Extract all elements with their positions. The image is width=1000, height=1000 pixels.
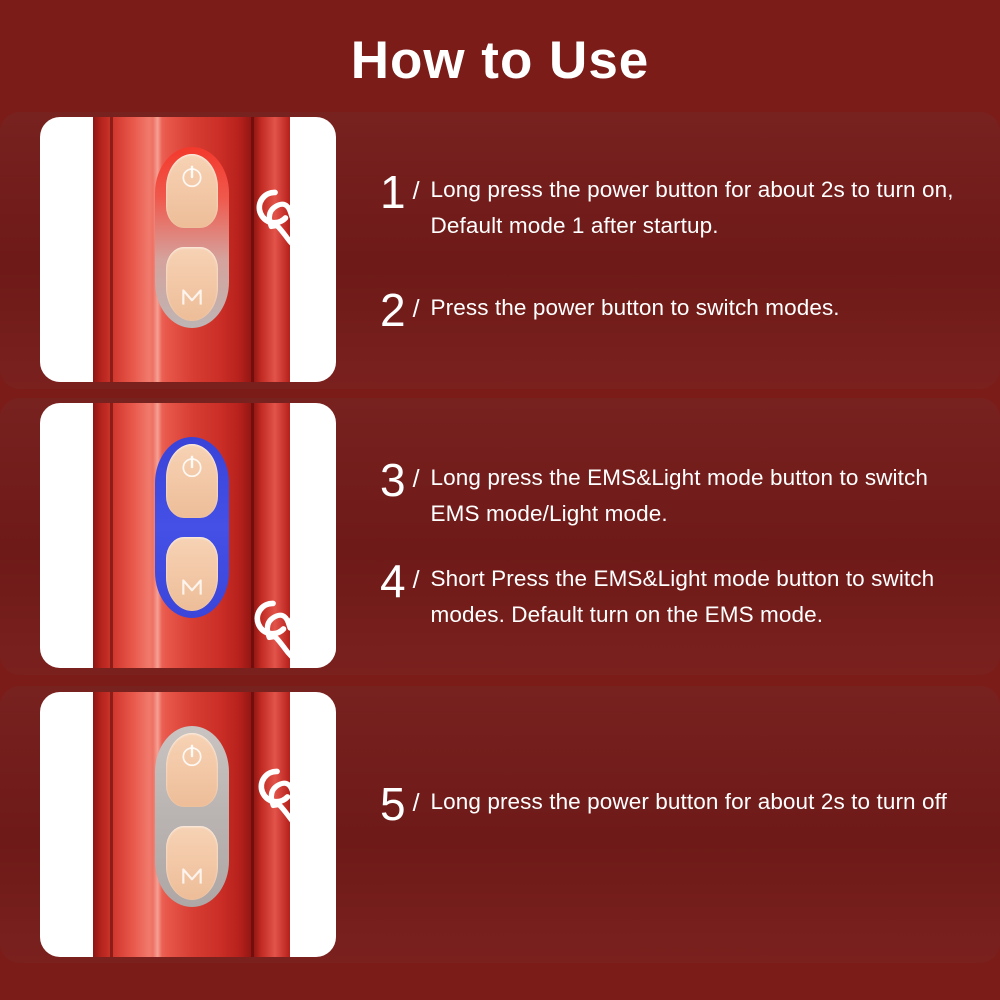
mode-m-icon <box>179 284 205 310</box>
step-separator: / <box>413 559 420 601</box>
mode-button[interactable] <box>166 537 218 611</box>
device-seam-left <box>110 117 113 382</box>
product-photo-step-3 <box>40 692 336 957</box>
mode-button[interactable] <box>166 247 218 321</box>
button-pad <box>155 147 229 328</box>
device-seam-right <box>251 403 254 668</box>
mode-m-icon <box>179 863 205 889</box>
step-number: 5 <box>380 782 406 826</box>
page-title: How to Use <box>0 34 1000 87</box>
device-seam-left <box>110 692 113 957</box>
device-seam-left <box>110 403 113 668</box>
power-icon <box>179 453 205 479</box>
device-seam-right <box>251 117 254 382</box>
product-photo-step-1 <box>40 117 336 382</box>
step-item-1: 1 / Long press the power button for abou… <box>380 170 971 244</box>
step-item-2: 2 / Press the power button to switch mod… <box>380 288 840 332</box>
step-item-4: 4 / Short Press the EMS&Light mode butto… <box>380 559 971 633</box>
step-separator: / <box>413 458 420 500</box>
mode-button[interactable] <box>166 826 218 900</box>
step-item-3: 3 / Long press the EMS&Light mode button… <box>380 458 971 532</box>
step-number: 1 <box>380 170 406 214</box>
device-barrel <box>93 403 290 668</box>
step-number: 4 <box>380 559 406 603</box>
power-icon <box>179 742 205 768</box>
product-photo-step-2 <box>40 403 336 668</box>
step-text: Long press the power button for about 2s… <box>431 170 971 244</box>
step-separator: / <box>413 288 420 330</box>
step-separator: / <box>413 782 420 824</box>
power-button[interactable] <box>166 733 218 807</box>
mode-m-icon <box>179 574 205 600</box>
step-number: 2 <box>380 288 406 332</box>
step-item-5: 5 / Long press the power button for abou… <box>380 782 947 826</box>
device-seam-right <box>251 692 254 957</box>
button-pad <box>155 726 229 907</box>
device-barrel <box>93 117 290 382</box>
step-text: Long press the EMS&Light mode button to … <box>431 458 971 532</box>
power-icon <box>179 163 205 189</box>
power-button[interactable] <box>166 444 218 518</box>
button-pad <box>155 437 229 618</box>
step-separator: / <box>413 170 420 212</box>
step-text: Short Press the EMS&Light mode button to… <box>431 559 971 633</box>
device-barrel <box>93 692 290 957</box>
step-number: 3 <box>380 458 406 502</box>
step-text: Long press the power button for about 2s… <box>431 782 947 820</box>
power-button[interactable] <box>166 154 218 228</box>
step-text: Press the power button to switch modes. <box>431 288 840 326</box>
hand-pointer-icon <box>241 169 336 265</box>
hand-pointer-icon <box>243 748 336 844</box>
